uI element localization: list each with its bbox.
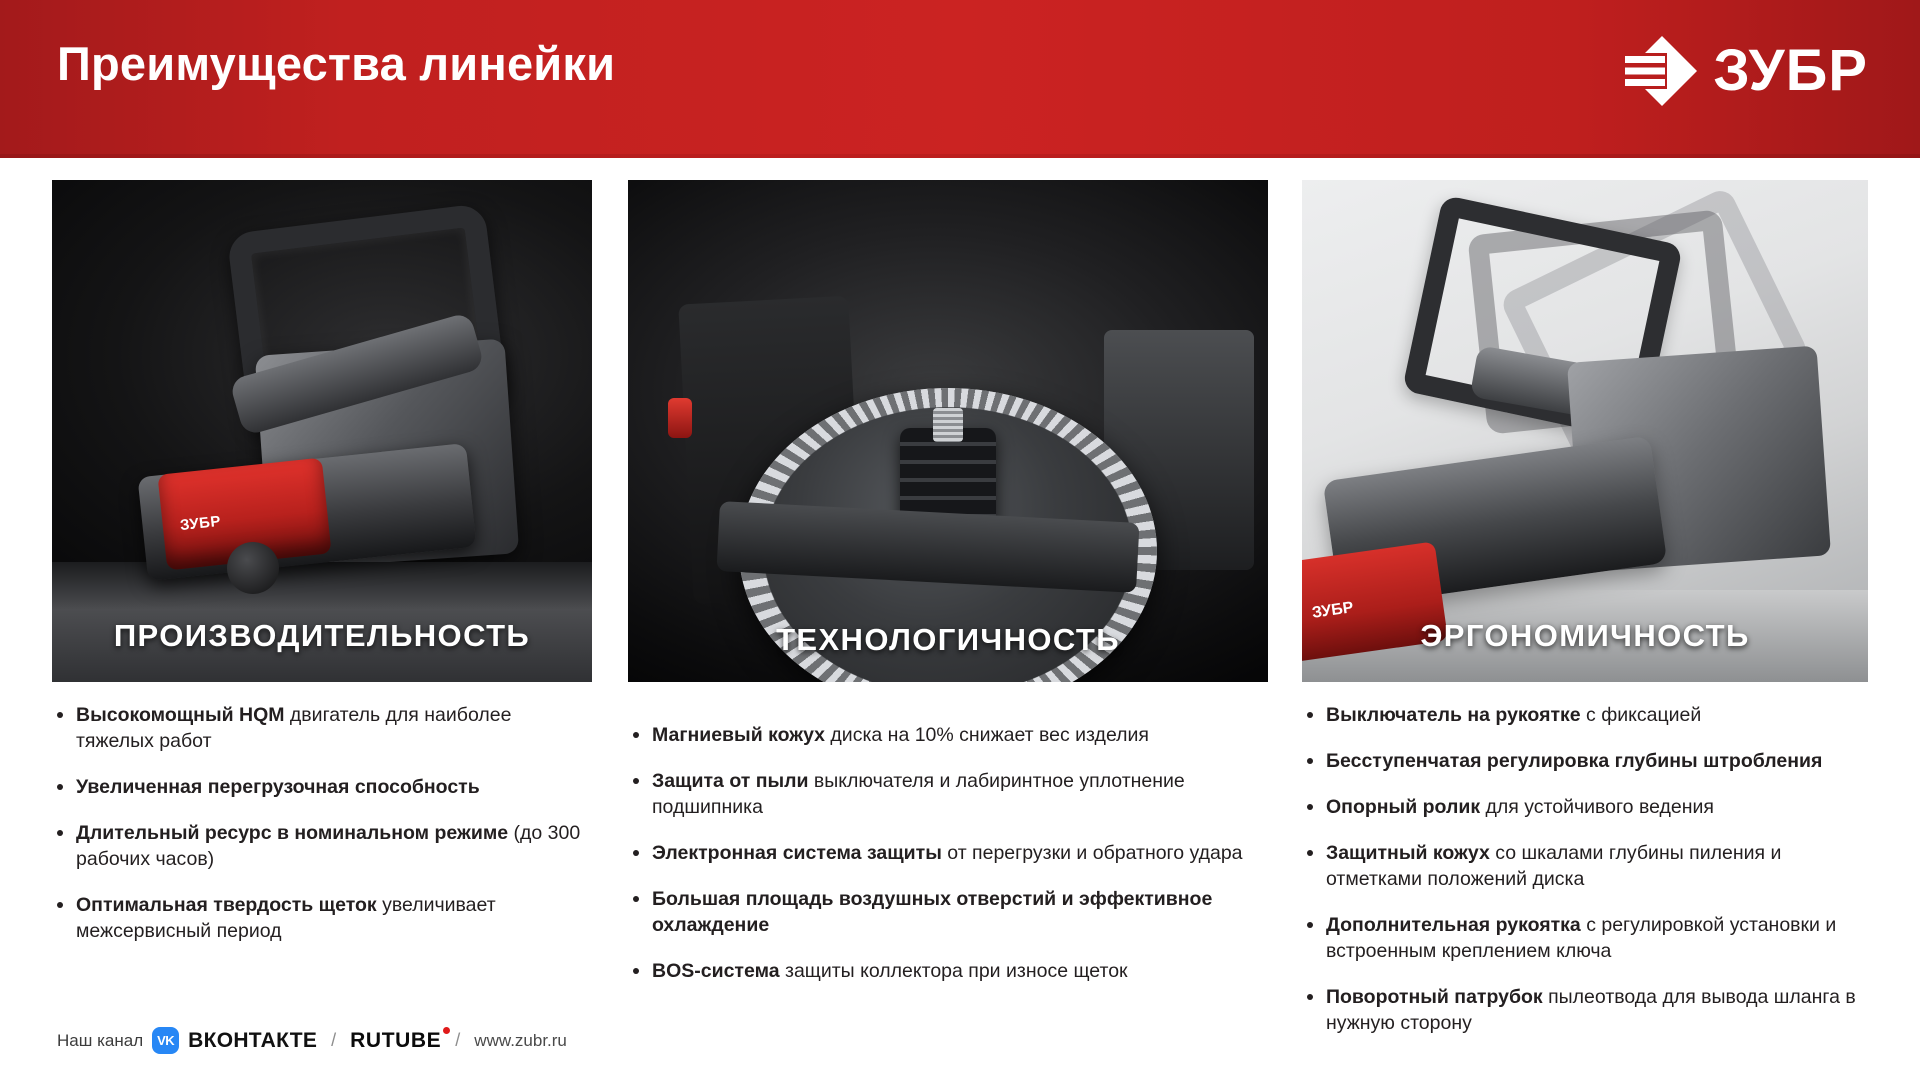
bullet-rest: с фиксацией — [1581, 704, 1702, 726]
performance-image: ЗУБР ПРОИЗВОДИТЕЛЬНОСТЬ — [52, 180, 592, 682]
list-item: Магниевый кожух диска на 10% снижает вес… — [628, 722, 1268, 748]
bullet-rest: защиты коллектора при износе щеток — [780, 960, 1128, 982]
bullet-strong: Большая площадь воздушных отверстий и эф… — [652, 888, 1212, 936]
bullet-strong: Бесступенчатая регулировка глубины штроб… — [1326, 750, 1822, 772]
vk-icon[interactable]: VK — [152, 1027, 179, 1054]
bullet-rest: диска на 10% снижает вес изделия — [825, 724, 1149, 746]
bullet-strong: Защитный кожух — [1326, 842, 1490, 864]
page-header: Преимущества линейки ЗУБР — [0, 0, 1920, 158]
technology-image: ТЕХНОЛОГИЧНОСТЬ — [628, 180, 1268, 682]
zubr-logo: ЗУБР — [1621, 34, 1868, 108]
page-title: Преимущества линейки — [57, 36, 615, 91]
list-item: Защита от пыли выключателя и лабиринтное… — [628, 768, 1268, 820]
bullet-strong: Электронная система защиты — [652, 842, 942, 864]
bullet-strong: Опорный ролик — [1326, 796, 1480, 818]
wall-chaser-illustration: ЗУБР — [52, 180, 592, 682]
zubr-wordmark: ЗУБР — [1713, 42, 1868, 100]
bullet-strong: Магниевый кожух — [652, 724, 825, 746]
list-item: Увеличенная перегрузочная способность — [52, 774, 592, 800]
list-item: Большая площадь воздушных отверстий и эф… — [628, 886, 1268, 938]
zubr-diamond-arrow-icon — [1621, 34, 1699, 108]
list-item: Выключатель на рукоятке с фиксацией — [1302, 702, 1868, 728]
list-item: BOS-система защиты коллектора при износе… — [628, 958, 1268, 984]
bullet-strong: Выключатель на рукоятке — [1326, 704, 1581, 726]
bullet-strong: Защита от пыли — [652, 770, 809, 792]
performance-caption: ПРОИЗВОДИТЕЛЬНОСТЬ — [52, 618, 592, 654]
column-technology: ТЕХНОЛОГИЧНОСТЬ Магниевый кожух диска на… — [628, 180, 1268, 682]
technology-bullet-list: Магниевый кожух диска на 10% снижает вес… — [628, 722, 1268, 984]
bullet-strong: Высокомощный HQM — [76, 704, 285, 726]
bullet-strong: Оптимальная твердость щеток — [76, 894, 377, 916]
rutube-link[interactable]: RUTUBE — [350, 1029, 441, 1053]
list-item: Длительный ресурс в номинальном режиме (… — [52, 820, 592, 872]
vk-link[interactable]: ВКОНТАКТЕ — [188, 1029, 317, 1053]
technology-caption: ТЕХНОЛОГИЧНОСТЬ — [628, 622, 1268, 658]
ergonomics-image: ЗУБР ЭРГОНОМИЧНОСТЬ — [1302, 180, 1868, 682]
list-item: Электронная система защиты от перегрузки… — [628, 840, 1268, 866]
bullet-rest: от перегрузки и обратного удара — [942, 842, 1243, 864]
adjustable-handle-illustration: ЗУБР — [1302, 180, 1868, 682]
footer-separator: / — [455, 1030, 460, 1051]
footer-separator: / — [331, 1030, 336, 1051]
footer-social-bar: Наш канал VK ВКОНТАКТЕ / RUTUBE / www.zu… — [57, 1027, 567, 1054]
list-item: Защитный кожух со шкалами глубины пилени… — [1302, 840, 1868, 892]
ergonomics-caption: ЭРГОНОМИЧНОСТЬ — [1302, 618, 1868, 654]
bullet-strong: Поворотный патрубок — [1326, 986, 1543, 1008]
performance-bullet-list: Высокомощный HQM двигатель для наиболее … — [52, 702, 592, 944]
column-performance: ЗУБР ПРОИЗВОДИТЕЛЬНОСТЬ Высокомощный HQM… — [52, 180, 592, 682]
diamond-disc-illustration — [628, 180, 1268, 682]
list-item: Дополнительная рукоятка с регулировкой у… — [1302, 912, 1868, 964]
list-item: Оптимальная твердость щеток увеличивает … — [52, 892, 592, 944]
footer-lead-text: Наш канал — [57, 1031, 143, 1051]
rutube-label: RUTUBE — [350, 1029, 441, 1052]
bullet-strong: Длительный ресурс в номинальном режиме — [76, 822, 508, 844]
bullet-strong: Увеличенная перегрузочная способность — [76, 776, 480, 798]
list-item: Высокомощный HQM двигатель для наиболее … — [52, 702, 592, 754]
rutube-dot-icon — [443, 1027, 450, 1034]
bullet-rest: для устойчивого ведения — [1480, 796, 1714, 818]
bullet-strong: BOS-система — [652, 960, 780, 982]
column-ergonomics: ЗУБР ЭРГОНОМИЧНОСТЬ Выключатель на рукоя… — [1302, 180, 1868, 682]
bullet-strong: Дополнительная рукоятка — [1326, 914, 1581, 936]
list-item: Опорный ролик для устойчивого ведения — [1302, 794, 1868, 820]
website-url[interactable]: www.zubr.ru — [474, 1031, 567, 1051]
list-item: Бесступенчатая регулировка глубины штроб… — [1302, 748, 1868, 774]
ergonomics-bullet-list: Выключатель на рукоятке с фиксацией Бесс… — [1302, 702, 1868, 1036]
list-item: Поворотный патрубок пылеотвода для вывод… — [1302, 984, 1868, 1036]
